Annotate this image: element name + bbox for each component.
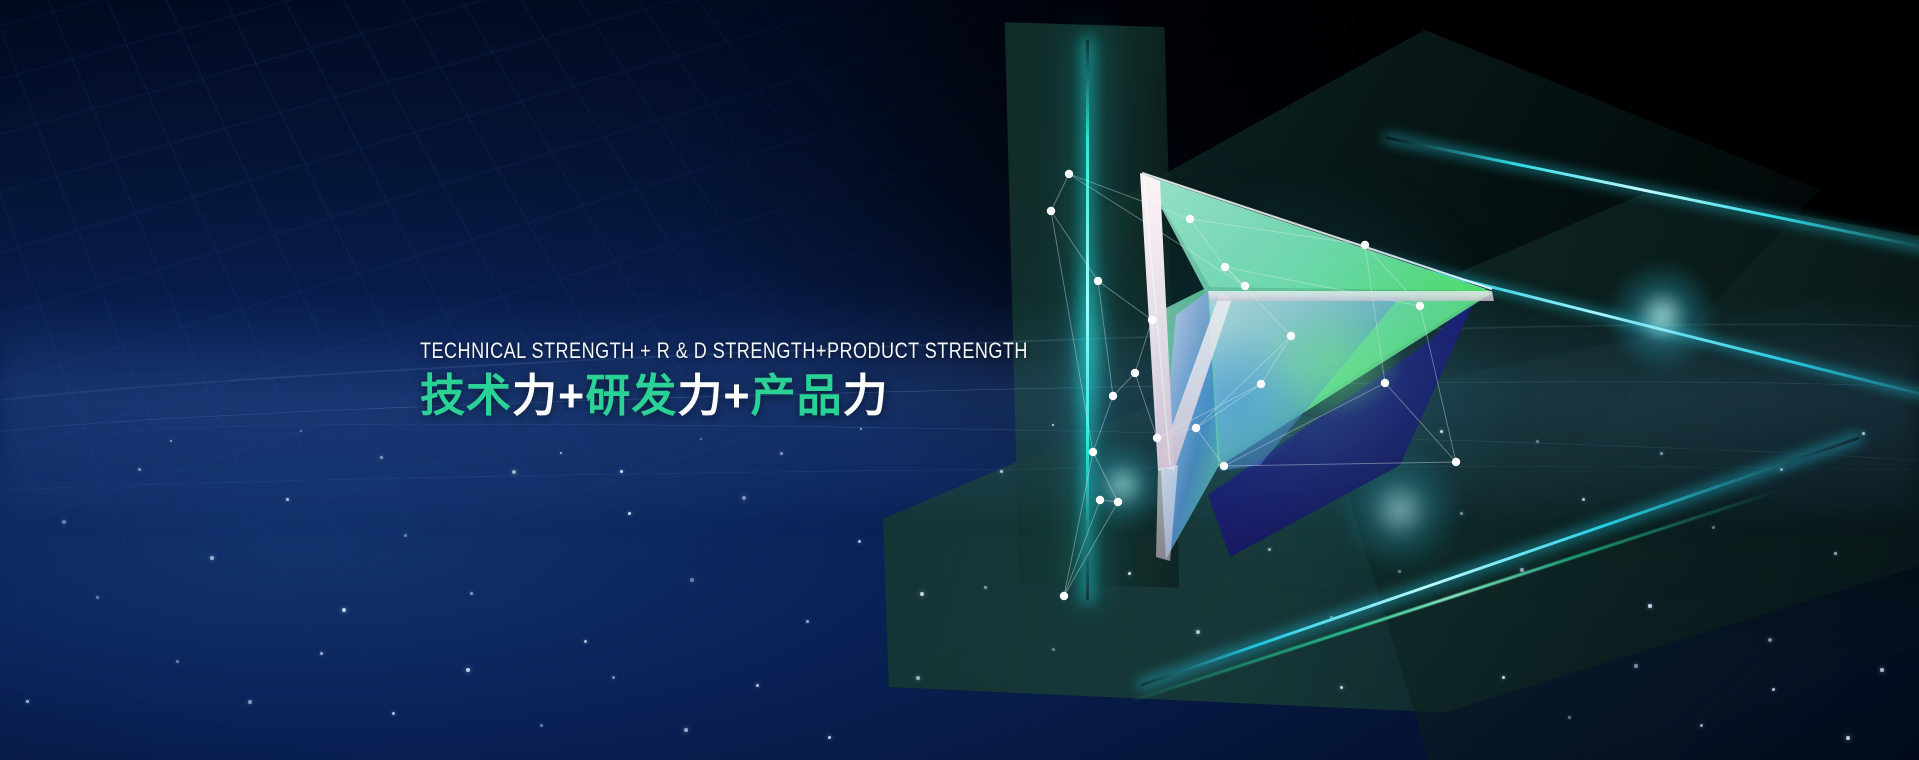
headline-segment-7: 力 [843, 370, 889, 421]
hero-text-block: TECHNICAL STRENGTH + R & D STRENGTH+PROD… [420, 338, 1040, 424]
hero-headline: 技术力+研发力+产品力 [420, 368, 1040, 424]
hero-eyebrow: TECHNICAL STRENGTH + R & D STRENGTH+PROD… [420, 338, 928, 364]
headline-segment-5: + [723, 370, 750, 421]
hero-banner: TECHNICAL STRENGTH + R & D STRENGTH+PROD… [0, 0, 1919, 760]
headline-segment-2: + [558, 370, 585, 421]
headline-segment-0: 技术 [420, 370, 512, 421]
headline-segment-6: 产品 [751, 370, 843, 421]
headline-segment-4: 力 [677, 370, 723, 421]
headline-segment-1: 力 [512, 370, 558, 421]
headline-segment-3: 研发 [585, 370, 677, 421]
